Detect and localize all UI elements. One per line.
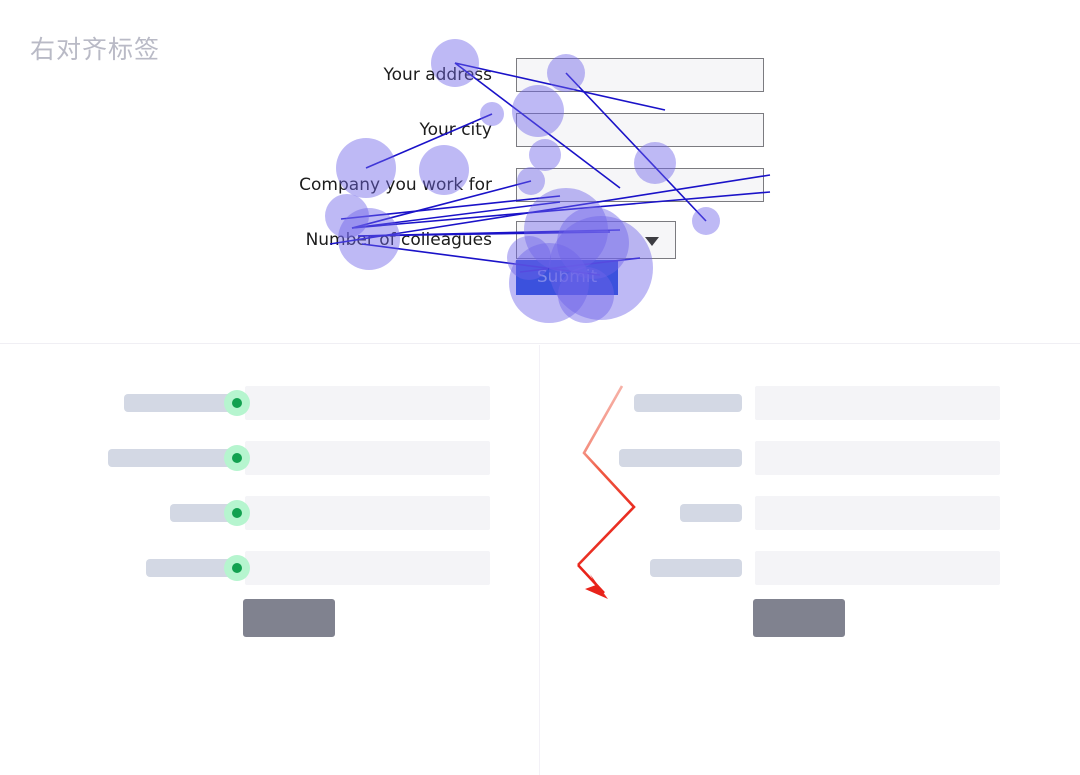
green-dot-icon [224, 555, 250, 581]
wireframe-submit-button[interactable] [753, 599, 845, 637]
form-label-your-city: Your city [420, 113, 493, 147]
input-your-address[interactable] [516, 58, 764, 92]
green-dot-core [232, 508, 242, 518]
slide-root: 右对齐标签 Your address Your city Company you… [0, 0, 1080, 775]
form-label-number-of-colleagues: Number of colleagues [306, 221, 492, 259]
form-label-your-address: Your address [384, 58, 492, 92]
wireframe-input[interactable] [755, 496, 1000, 530]
wireframe-label [124, 394, 237, 412]
right-aligned-label-form: Your address Your city Company you work … [300, 32, 800, 322]
form-row: Your city [300, 113, 780, 147]
select-number-of-colleagues[interactable] [516, 221, 676, 259]
green-dot-icon [224, 500, 250, 526]
page-title: 右对齐标签 [30, 30, 160, 66]
wireframe-input[interactable] [245, 386, 490, 420]
wireframe-input[interactable] [245, 551, 490, 585]
form-label-company-you-work-for: Company you work for [299, 168, 492, 202]
green-dot-core [232, 453, 242, 463]
pros-panel: 优势 明确的视觉关联，有利于用户进行填写信息；节约垂直空间 [0, 345, 540, 775]
wireframe-input[interactable] [755, 386, 1000, 420]
wireframe-submit-button[interactable] [243, 599, 335, 637]
wireframe-label [108, 449, 238, 467]
form-row: Number of colleagues [300, 221, 780, 255]
cons-panel: 劣势 参差不齐的标签，降低表单整体可读性；标签和输入框弹性长度小 [540, 345, 1080, 775]
red-zigzag-arrow-icon [556, 375, 676, 605]
input-your-city[interactable] [516, 113, 764, 147]
wireframe-input[interactable] [245, 441, 490, 475]
green-dot-icon [224, 445, 250, 471]
chevron-down-icon [645, 237, 659, 246]
input-company-you-work-for[interactable] [516, 168, 764, 202]
green-dot-core [232, 563, 242, 573]
green-dot-icon [224, 390, 250, 416]
wireframe-input[interactable] [245, 496, 490, 530]
form-row: Your address [300, 58, 780, 92]
wireframe-input[interactable] [755, 551, 1000, 585]
wireframe-input[interactable] [755, 441, 1000, 475]
green-dot-core [232, 398, 242, 408]
form-demo-section: 右对齐标签 Your address Your city Company you… [0, 0, 1080, 344]
submit-button[interactable]: Submit [516, 260, 618, 295]
wireframe-label [680, 504, 742, 522]
form-row: Company you work for [300, 168, 780, 202]
